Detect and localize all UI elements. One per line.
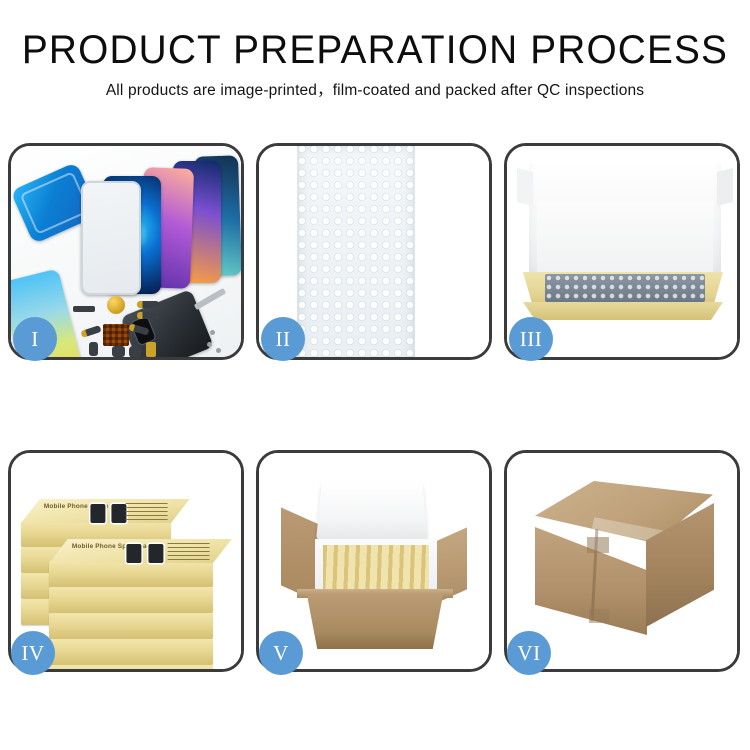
step-badge-6: VI <box>507 631 551 675</box>
box-phone-thumb-2b <box>148 544 163 563</box>
box-spec-lines-1 <box>126 503 168 521</box>
retail-box-front-1: Mobile Phone Spare Parts <box>49 561 213 587</box>
retail-box-front-3 <box>49 613 213 639</box>
step-badge-5: V <box>259 631 303 675</box>
retail-box-front-5 <box>49 665 213 669</box>
process-steps-grid: I II III <box>8 143 742 672</box>
carton-tab-upper <box>587 537 609 553</box>
step-badge-4: IV <box>11 631 55 675</box>
page-header: PRODUCT PREPARATION PROCESS All products… <box>0 0 750 99</box>
page-title: PRODUCT PREPARATION PROCESS <box>11 30 739 70</box>
step-badge-1: I <box>13 317 57 361</box>
step-panel-1[interactable]: I <box>8 143 244 360</box>
spare-part-button <box>89 342 98 356</box>
step-panel-3[interactable]: III <box>504 143 740 360</box>
spare-part-screw-3 <box>210 330 215 335</box>
spare-part-flex-cable-1 <box>137 301 159 308</box>
carton-tab-lower <box>589 609 609 623</box>
box-phone-thumb-1b <box>111 504 126 523</box>
step-badge-3: III <box>509 317 553 361</box>
spare-part-connector-grid <box>103 324 129 346</box>
step-panel-2[interactable]: II <box>256 143 492 360</box>
spare-part-vibrator <box>129 346 141 357</box>
bubble-wrap-texture <box>297 146 415 357</box>
spare-part-flex-cable-2 <box>137 312 159 319</box>
yellow-box-front-edge <box>523 302 723 320</box>
step-panel-4[interactable]: Mobile Phone Spare Parts Mobile Phone Sp… <box>8 450 244 672</box>
box-spec-lines-2 <box>168 543 210 561</box>
retail-box-front-4 <box>49 639 213 665</box>
step-panel-6[interactable]: VI <box>504 450 740 672</box>
tempered-glass-film <box>81 181 141 295</box>
yellow-boxes-inside <box>323 545 429 589</box>
bubble-wrap-bag <box>297 146 415 357</box>
retail-box-front-2 <box>49 587 213 613</box>
spare-part-screw-1 <box>207 342 212 347</box>
step-badge-2: II <box>261 317 305 361</box>
box-phone-thumb-2a <box>126 544 141 563</box>
retail-box-lid-1: Mobile Phone Spare Parts <box>21 499 190 523</box>
spare-part-speaker <box>73 306 95 312</box>
spare-part-coil <box>107 296 125 314</box>
carton-body <box>299 593 451 649</box>
foam-lid <box>316 482 428 541</box>
bubble-wrapped-contents <box>545 274 705 302</box>
retail-box-lid-2: Mobile Phone Spare Parts <box>49 539 232 563</box>
page-subtitle: All products are image-printed，film-coat… <box>0 83 750 99</box>
box-label-2: Mobile Phone Spare Parts <box>72 543 156 550</box>
box-phone-thumb-1a <box>90 504 105 523</box>
spare-part-screw-2 <box>216 348 221 353</box>
spare-part-battery-connector <box>146 342 156 357</box>
white-foam-sheet <box>537 201 713 279</box>
spare-part-camera <box>112 346 125 357</box>
step-panel-5[interactable]: V <box>256 450 492 672</box>
